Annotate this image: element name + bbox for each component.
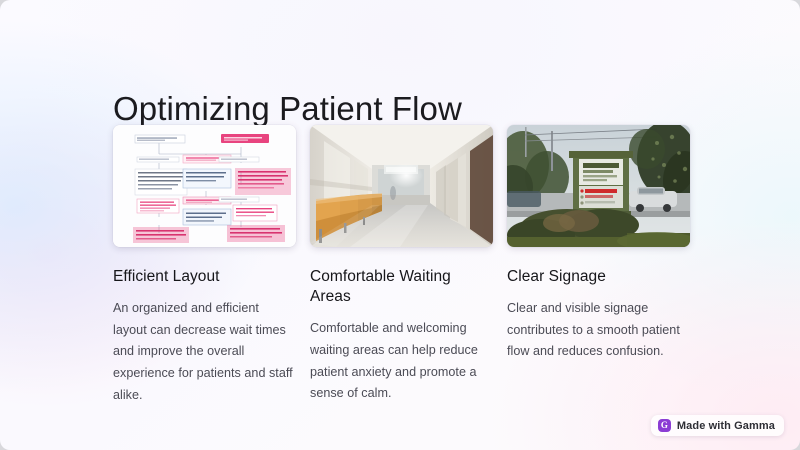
feature-body: Comfortable and welcoming waiting areas … <box>310 318 493 405</box>
feature-heading: Efficient Layout <box>113 267 296 287</box>
feature-column-comfortable-waiting-areas: Comfortable Waiting Areas Comfortable an… <box>310 125 493 406</box>
hospital-corridor-image[interactable] <box>310 125 493 247</box>
made-with-gamma-label: Made with Gamma <box>677 420 775 432</box>
patient-flow-flowchart-image[interactable] <box>113 125 296 247</box>
feature-body: An organized and efficient layout can de… <box>113 298 296 406</box>
feature-body: Clear and visible signage contributes to… <box>507 298 690 363</box>
gamma-logo-icon: G <box>658 419 671 432</box>
feature-heading: Clear Signage <box>507 267 690 287</box>
slide-canvas: Optimizing Patient Flow <box>0 0 800 450</box>
feature-column-efficient-layout: Efficient Layout An organized and effici… <box>113 125 296 406</box>
page-title: Optimizing Patient Flow <box>113 90 462 129</box>
feature-heading: Comfortable Waiting Areas <box>310 267 493 307</box>
made-with-gamma-badge[interactable]: G Made with Gamma <box>651 415 784 436</box>
outdoor-monument-signage-image[interactable] <box>507 125 690 247</box>
feature-column-clear-signage: Clear Signage Clear and visible signage … <box>507 125 690 406</box>
feature-columns: Efficient Layout An organized and effici… <box>113 125 691 406</box>
